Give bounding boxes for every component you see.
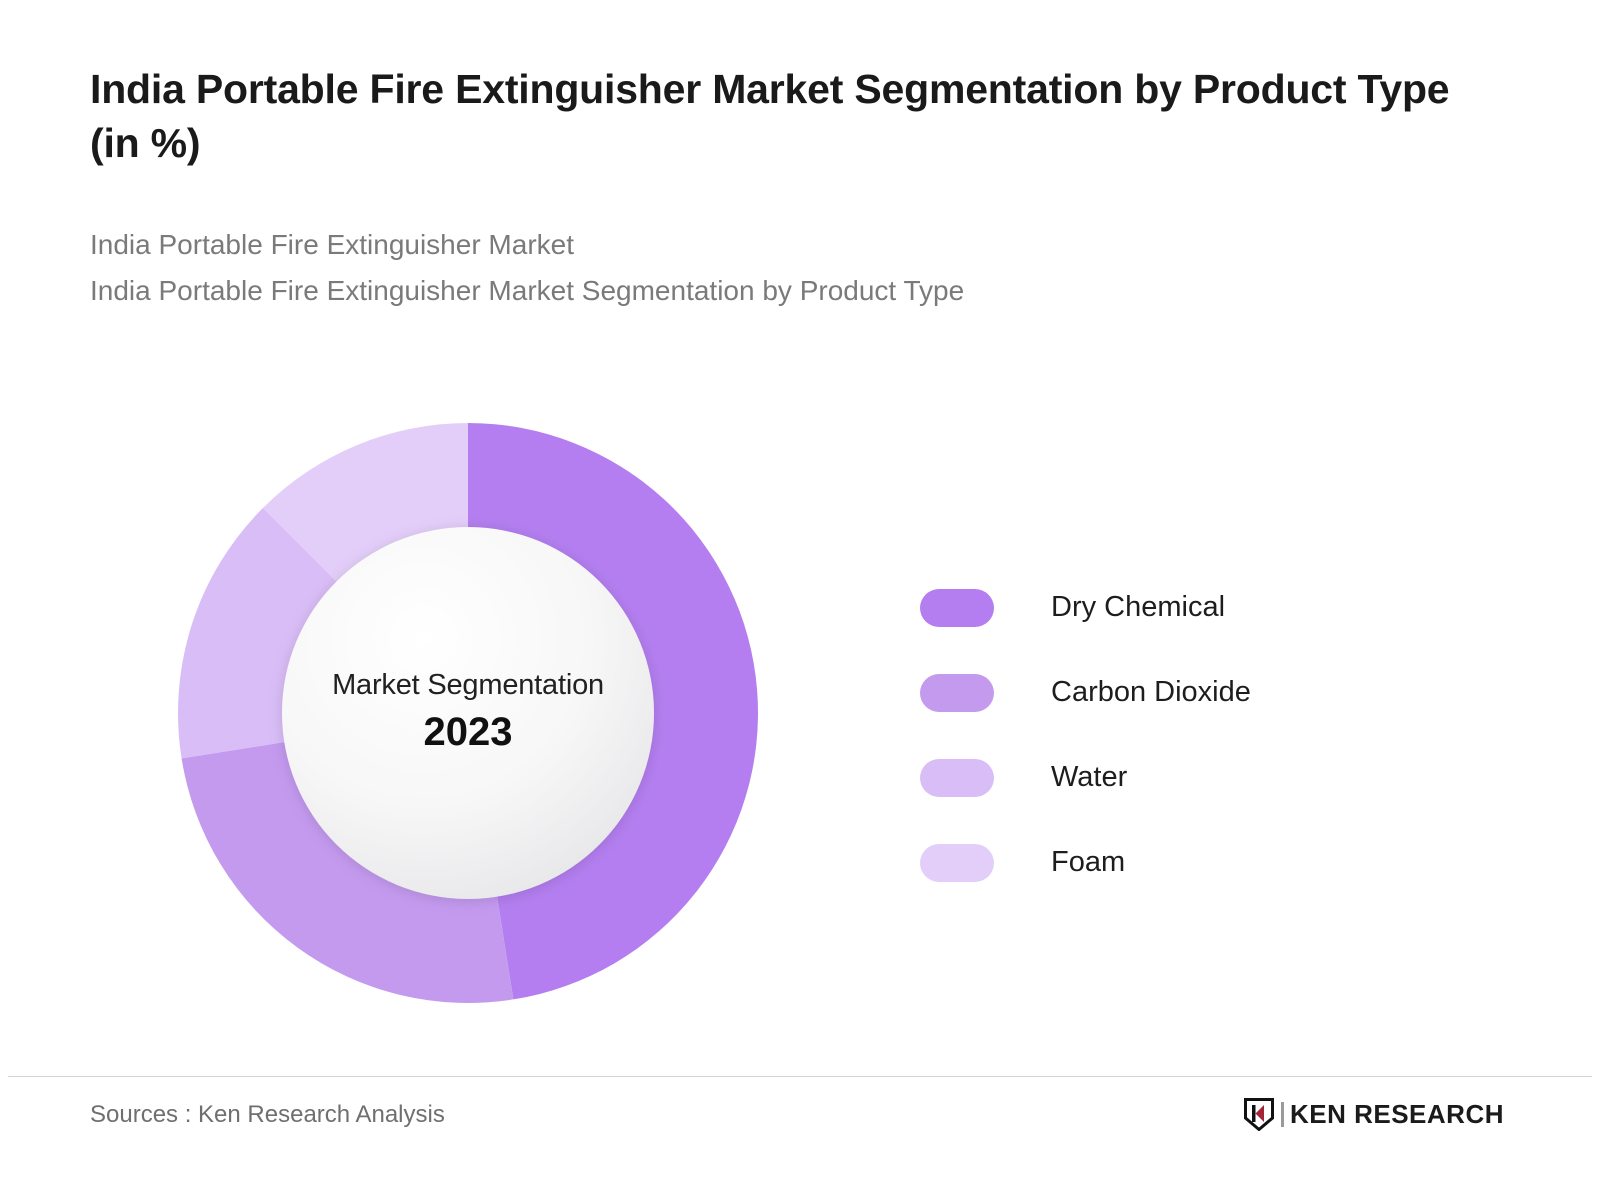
subtitle-line-2: India Portable Fire Extinguisher Market …: [90, 268, 1510, 314]
donut-svg: [178, 423, 758, 1003]
subtitle-block: India Portable Fire Extinguisher Market …: [90, 222, 1510, 313]
legend-item-foam[interactable]: Foam: [920, 820, 1440, 905]
legend-label: Dry Chemical: [1051, 591, 1225, 624]
brand-divider: [1281, 1102, 1284, 1127]
legend-label: Water: [1051, 761, 1127, 794]
legend-label: Foam: [1051, 846, 1125, 879]
chart-area: Market Segmentation 2023 Dry ChemicalCar…: [0, 400, 1600, 1040]
legend-item-carbon-dioxide[interactable]: Carbon Dioxide: [920, 650, 1440, 735]
legend-swatch-icon: [920, 759, 994, 797]
donut-chart: Market Segmentation 2023: [178, 423, 758, 1003]
chart-legend: Dry ChemicalCarbon DioxideWaterFoam: [920, 565, 1440, 905]
legend-swatch-icon: [920, 844, 994, 882]
legend-item-dry-chemical[interactable]: Dry Chemical: [920, 565, 1440, 650]
legend-swatch-icon: [920, 589, 994, 627]
chart-header: India Portable Fire Extinguisher Market …: [90, 62, 1510, 313]
donut-hole: [282, 527, 654, 899]
brand-logo: KEN RESEARCH: [1244, 1097, 1504, 1131]
legend-label: Carbon Dioxide: [1051, 676, 1251, 709]
legend-swatch-icon: [920, 674, 994, 712]
brand-name: KEN RESEARCH: [1290, 1099, 1504, 1130]
chart-page: India Portable Fire Extinguisher Market …: [0, 0, 1600, 1200]
chart-footer: Sources : Ken Research Analysis KEN RESE…: [0, 1077, 1600, 1200]
ken-research-shield-icon: [1244, 1098, 1274, 1131]
legend-item-water[interactable]: Water: [920, 735, 1440, 820]
subtitle-line-1: India Portable Fire Extinguisher Market: [90, 222, 1510, 268]
source-note: Sources : Ken Research Analysis: [90, 1101, 445, 1129]
page-title: India Portable Fire Extinguisher Market …: [90, 62, 1470, 170]
